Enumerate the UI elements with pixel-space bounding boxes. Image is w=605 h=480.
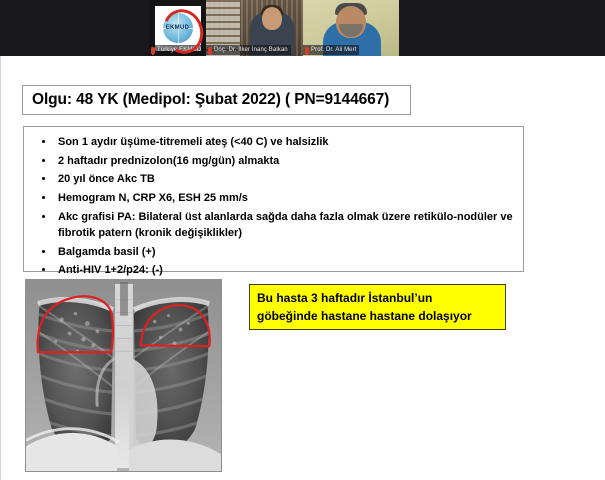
callout-line-2: göbeğinde hastane hastane dolaşıyor: [257, 307, 498, 325]
presentation-slide: Olgu: 48 YK (Medipol: Şubat 2022) ( PN=9…: [0, 56, 605, 480]
microphone-muted-icon: [208, 47, 212, 54]
list-item: Hemogram N, CRP X6, ESH 25 mm/s: [30, 190, 517, 206]
callout-line-1: Bu hasta 3 haftadır İstanbul’un: [257, 289, 498, 307]
list-item: Son 1 aydır üşüme-titremeli ateş (<40 C)…: [30, 134, 517, 150]
strip-empty-right: [399, 0, 605, 56]
participant-name-mert: Prof. Dr. Ali Mert: [303, 45, 359, 55]
bullet-list: Son 1 aydır üşüme-titremeli ateş (<40 C)…: [30, 134, 517, 279]
list-item: 20 yıl önce Akc TB: [30, 171, 517, 187]
video-conference-strip: EKMUD Türkiye EKMUD Doç. Dr. İlker İnanç…: [0, 0, 605, 56]
list-item: Anti-HIV 1+2/p24: (-): [30, 262, 517, 278]
strip-empty-left: [0, 0, 149, 56]
participant-tile-ekmud[interactable]: EKMUD Türkiye EKMUD: [149, 0, 206, 56]
participant-head: [262, 7, 282, 30]
participant-tile-balkan[interactable]: Doç. Dr. İlker İnanç Balkan: [206, 0, 303, 56]
list-item: 2 haftadır prednizolon(16 mg/gün) almakt…: [30, 153, 517, 169]
page-title: Olgu: 48 YK (Medipol: Şubat 2022) ( PN=9…: [32, 91, 389, 109]
participant-tile-mert[interactable]: Prof. Dr. Ali Mert: [303, 0, 399, 56]
chest-xray-graphic: [26, 280, 221, 471]
highlight-callout: Bu hasta 3 haftadır İstanbul’un göbeğind…: [249, 284, 506, 330]
slide-title-box: Olgu: 48 YK (Medipol: Şubat 2022) ( PN=9…: [22, 85, 411, 115]
participant-name-balkan: Doç. Dr. İlker İnanç Balkan: [206, 45, 291, 55]
clinical-summary-box: Son 1 aydır üşüme-titremeli ateş (<40 C)…: [23, 126, 524, 272]
ekmud-logo: EKMUD: [155, 6, 201, 51]
participant-label: Prof. Dr. Ali Mert: [311, 45, 356, 55]
ekmud-logo-text: EKMUD: [166, 25, 190, 31]
list-item: Akc grafisi PA: Bilateral üst alanlarda …: [30, 209, 517, 241]
chest-xray-image: [25, 279, 222, 472]
participant-label: Doç. Dr. İlker İnanç Balkan: [214, 45, 288, 55]
microphone-muted-icon: [151, 47, 155, 54]
microphone-muted-icon: [305, 47, 309, 54]
list-item: Balgamda basil (+): [30, 244, 517, 260]
